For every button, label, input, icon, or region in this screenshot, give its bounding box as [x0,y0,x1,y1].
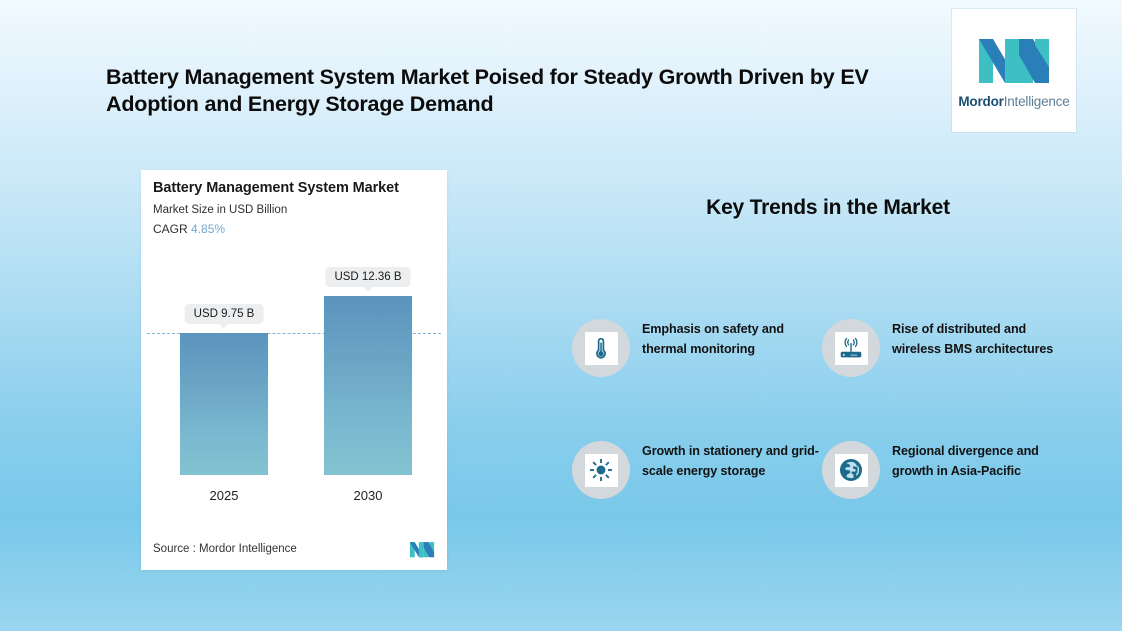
chart-cagr: CAGR 4.85% [153,222,225,236]
poster-canvas: Battery Management System Market Poised … [0,0,1122,631]
globe-icon [838,457,864,483]
bar-value-label-2030: USD 12.36 B [325,267,410,287]
trend-icon-frame [835,332,868,365]
trend-icon-circle [572,441,630,499]
brand-word-secondary: Intelligence [1004,94,1070,109]
brand-wordmark: MordorIntelligence [958,94,1069,109]
trend-text: Regional divergence and growth in Asia-P… [892,440,1072,481]
sun-icon [588,457,614,483]
chart-title: Battery Management System Market [153,180,399,196]
wireless-router-icon [838,335,864,361]
bar-value-label-2025: USD 9.75 B [185,304,264,324]
page-title: Battery Management System Market Poised … [106,64,936,118]
cagr-value: 4.85% [191,222,225,236]
bar-2030[interactable] [324,296,412,475]
bar-chart-plot-area: USD 9.75 B USD 12.36 B 2025 2030 [141,260,447,515]
trend-item-grid-storage: Growth in stationery and grid-scale ener… [572,440,822,499]
trend-item-asia-pacific: Regional divergence and growth in Asia-P… [822,440,1072,499]
trend-item-wireless-bms: Rise of distributed and wireless BMS arc… [822,318,1072,377]
trend-text: Emphasis on safety and thermal monitorin… [642,318,822,359]
key-trends-heading: Key Trends in the Market [560,196,1096,220]
market-size-chart-card: Battery Management System Market Market … [141,170,447,570]
brand-word-primary: Mordor [958,94,1003,109]
trend-item-safety-thermal: Emphasis on safety and thermal monitorin… [572,318,822,377]
chart-card-footer: Source : Mordor Intelligence [153,540,435,558]
trend-icon-circle [822,441,880,499]
brand-logo-badge: MordorIntelligence [952,9,1076,132]
x-axis-tick-2030: 2030 [324,488,412,503]
trend-icon-frame [585,454,618,487]
mordor-m-mark-icon [977,33,1051,85]
trend-icon-frame [585,332,618,365]
bar-2025[interactable] [180,333,268,475]
thermometer-icon [588,335,614,361]
mordor-m-mark-icon-small [409,540,435,558]
trend-text: Growth in stationery and grid-scale ener… [642,440,822,481]
trend-icon-circle [822,319,880,377]
trend-icon-frame [835,454,868,487]
bar-group-2025: USD 9.75 B [180,333,268,475]
trend-icon-circle [572,319,630,377]
cagr-label: CAGR [153,222,188,236]
bar-group-2030: USD 12.36 B [324,296,412,475]
source-text: Source : Mordor Intelligence [153,543,297,555]
trend-text: Rise of distributed and wireless BMS arc… [892,318,1072,359]
x-axis-tick-2025: 2025 [180,488,268,503]
chart-subtitle: Market Size in USD Billion [153,204,287,216]
